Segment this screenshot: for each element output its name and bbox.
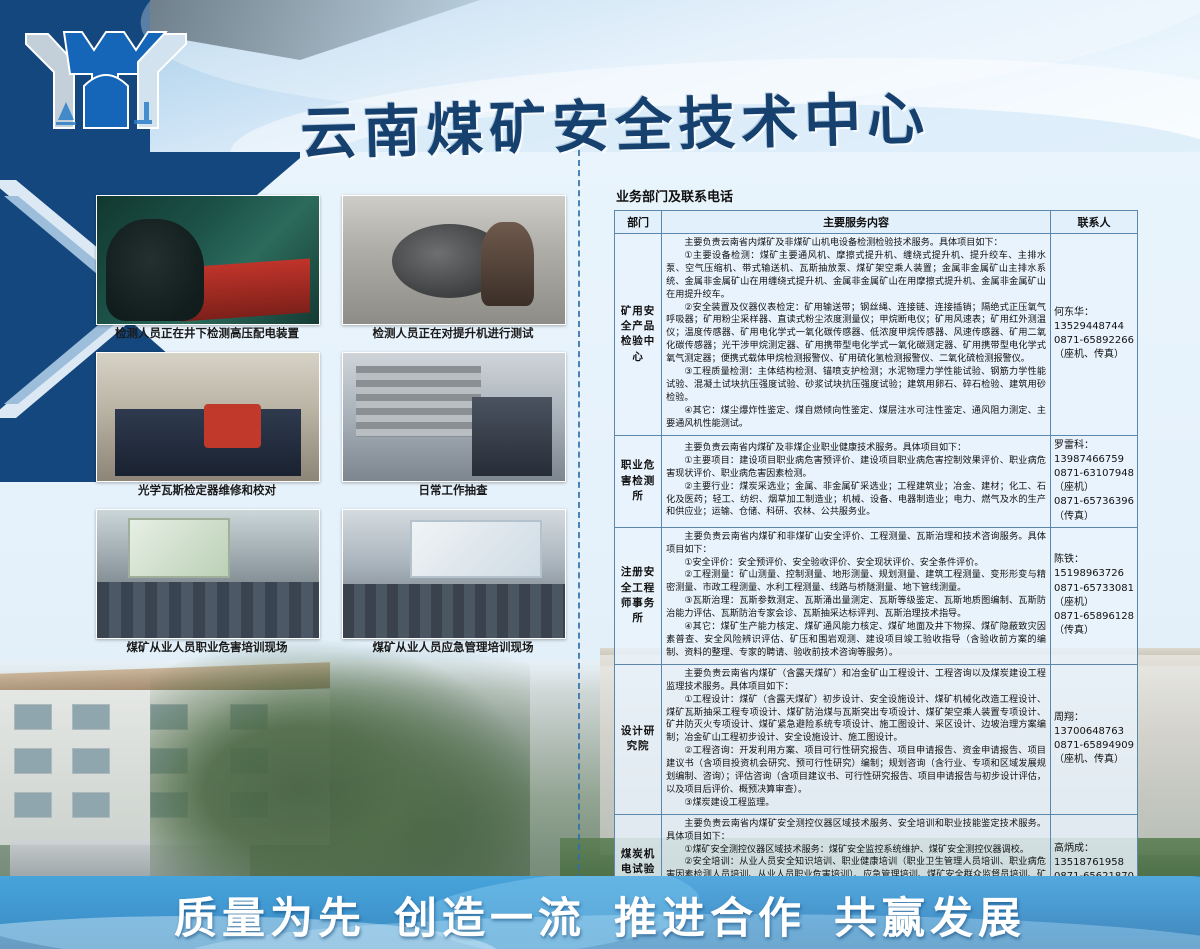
department-name: 设计研究院 <box>615 664 662 814</box>
photo-item: 日常工作抽查 <box>342 352 564 480</box>
service-content: 主要负责云南省内煤矿（含露天煤矿）和冶金矿山工程设计、工程咨询以及煤炭建设工程监… <box>662 664 1051 814</box>
photo-image-4 <box>342 352 566 482</box>
photo-caption: 煤矿从业人员职业危害培训现场 <box>96 639 318 655</box>
contact-line: （座机） <box>1054 596 1134 610</box>
table-row: 职业危害检测所主要负责云南省内煤矿及非煤企业职业健康技术服务。具体项目如下：①主… <box>615 435 1138 527</box>
service-paragraph: ①主要设备检测：煤矿主要通风机、摩擦式提升机、缠绕式提升机、提升绞车、主排水泵、… <box>666 250 1046 302</box>
contact-line: 何东华： <box>1054 306 1134 320</box>
contact-line: 13700648763 <box>1054 725 1134 739</box>
section-title: 业务部门及联系电话 <box>616 186 1138 205</box>
photo-row-3: 煤矿从业人员职业危害培训现场 煤矿从业人员应急管理培训现场 <box>96 509 564 659</box>
contact-line: （座机） <box>1054 481 1134 495</box>
photo-item: 煤矿从业人员应急管理培训现场 <box>342 509 564 637</box>
service-paragraph: ②主要行业：煤炭采选业；金属、非金属矿采选业；工程建筑业；冶金、建材；化工、石化… <box>666 481 1046 520</box>
photo-image-2 <box>342 195 566 325</box>
photo-image-5 <box>96 509 320 639</box>
contact-person: 陈铁：151989637260871-65733081（座机）0871-6589… <box>1051 527 1138 664</box>
contact-line: 13987466759 <box>1054 453 1134 467</box>
service-content: 主要负责云南省内煤矿及非煤矿山机电设备检测检验技术服务。具体项目如下：①主要设备… <box>662 234 1051 436</box>
service-paragraph: ①工程设计：煤矿（含露天煤矿）初步设计、安全设施设计、煤矿机械化改造工程设计、煤… <box>666 694 1046 746</box>
photo-caption: 检测人员正在对提升机进行测试 <box>342 325 564 341</box>
service-paragraph: ④其它：煤尘爆炸性鉴定、煤自燃倾向性鉴定、煤层注水可注性鉴定、通风阻力测定、主要… <box>666 405 1046 431</box>
slogan-phrase: 推进合作 <box>614 894 806 944</box>
fold-divider-line <box>578 150 580 880</box>
service-paragraph: 主要负责云南省内煤矿及非煤矿山机电设备检测检验技术服务。具体项目如下： <box>666 237 1046 250</box>
business-info-panel: 业务部门及联系电话 部门 主要服务内容 联系人 矿用安全产品检验中心主要负责云南… <box>614 186 1138 949</box>
contact-line: 15198963726 <box>1054 567 1134 581</box>
contact-line: 高炳成： <box>1054 842 1134 856</box>
photo-image-6 <box>342 509 566 639</box>
service-paragraph: ④其它：煤矿生产能力核定、煤矿通风能力核定、煤矿地面及井下物探、煤矿隐蔽致灾因素… <box>666 621 1046 660</box>
contact-line: 0871-65736396 <box>1054 495 1134 509</box>
poster-page: 云南煤矿安全技术中心 检测人员正在井下检测高压配电装置 检测人员正在对提升机进行… <box>0 0 1200 949</box>
table-row: 设计研究院主要负责云南省内煤矿（含露天煤矿）和冶金矿山工程设计、工程咨询以及煤炭… <box>615 664 1138 814</box>
table-header-row: 部门 主要服务内容 联系人 <box>615 211 1138 234</box>
service-content: 主要负责云南省内煤矿和非煤矿山安全评价、工程测量、瓦斯治理和技术咨询服务。具体项… <box>662 527 1051 664</box>
column-header-contact: 联系人 <box>1051 211 1138 234</box>
service-paragraph: ③煤炭建设工程监理。 <box>666 797 1046 810</box>
slogan-text: 质量为先创造一流推进合作共赢发展 <box>0 884 1200 946</box>
contact-line: 13529448744 <box>1054 320 1134 334</box>
photo-image-1 <box>96 195 320 325</box>
slogan-phrase: 创造一流 <box>394 894 586 944</box>
table-row: 注册安全工程师事务所主要负责云南省内煤矿和非煤矿山安全评价、工程测量、瓦斯治理和… <box>615 527 1138 664</box>
service-paragraph: 主要负责云南省内煤矿及非煤企业职业健康技术服务。具体项目如下： <box>666 442 1046 455</box>
service-paragraph: 主要负责云南省内煤矿安全测控仪器区域技术服务、安全培训和职业技能鉴定技术服务。具… <box>666 818 1046 844</box>
photo-row-2: 光学瓦斯检定器维修和校对 日常工作抽查 <box>96 352 564 502</box>
photo-caption: 检测人员正在井下检测高压配电装置 <box>96 325 318 341</box>
photo-caption: 日常工作抽查 <box>342 482 564 498</box>
slogan-phrase: 质量为先 <box>174 894 366 944</box>
service-paragraph: ①安全评价：安全预评价、安全验收评价、安全现状评价、安全条件评价。 <box>666 557 1046 570</box>
logo-arch <box>84 75 128 128</box>
contact-line: 陈铁： <box>1054 553 1134 567</box>
slogan-phrase: 共赢发展 <box>834 894 1026 944</box>
contact-line: 0871-65894909 <box>1054 739 1134 753</box>
photo-row-1: 检测人员正在井下检测高压配电装置 检测人员正在对提升机进行测试 <box>96 195 564 345</box>
service-paragraph: ③工程质量检测：主体结构检测、锚喷支护检测；水泥物理力学性能试验、钢筋力学性能试… <box>666 366 1046 405</box>
contact-line: 周翔： <box>1054 711 1134 725</box>
contact-person: 周翔：137006487630871-65894909（座机、传真） <box>1051 664 1138 814</box>
service-paragraph: ③瓦斯治理：瓦斯参数测定、瓦斯涌出量测定、瓦斯等级鉴定、瓦斯地质图编制、瓦斯防治… <box>666 595 1046 621</box>
column-header-department: 部门 <box>615 211 662 234</box>
contact-line: 罗雷科： <box>1054 439 1134 453</box>
contact-line: 0871-65896128 <box>1054 610 1134 624</box>
photo-caption: 光学瓦斯检定器维修和校对 <box>96 482 318 498</box>
photo-image-3 <box>96 352 320 482</box>
organization-logo <box>18 16 194 144</box>
service-paragraph: ②安全装置及仪器仪表检定：矿用输送带；钢丝绳、连接链、连接插销；隔绝式正压氧气呼… <box>666 302 1046 367</box>
photo-gallery: 检测人员正在井下检测高压配电装置 检测人员正在对提升机进行测试 光学瓦斯检定器维… <box>96 195 564 665</box>
service-paragraph: ①主要项目：建设项目职业病危害预评价、建设项目职业病危害控制效果评价、职业病危害… <box>666 455 1046 481</box>
service-paragraph: 主要负责云南省内煤矿和非煤矿山安全评价、工程测量、瓦斯治理和技术咨询服务。具体项… <box>666 531 1046 557</box>
photo-item: 光学瓦斯检定器维修和校对 <box>96 352 318 480</box>
photo-caption: 煤矿从业人员应急管理培训现场 <box>342 639 564 655</box>
photo-item: 检测人员正在井下检测高压配电装置 <box>96 195 318 323</box>
contact-line: 0871-63107948 <box>1054 467 1134 481</box>
table-row: 矿用安全产品检验中心主要负责云南省内煤矿及非煤矿山机电设备检测检验技术服务。具体… <box>615 234 1138 436</box>
department-name: 职业危害检测所 <box>615 435 662 527</box>
service-paragraph: 主要负责云南省内煤矿（含露天煤矿）和冶金矿山工程设计、工程咨询以及煤炭建设工程监… <box>666 668 1046 694</box>
contact-line: （座机、传真） <box>1054 753 1134 767</box>
column-header-services: 主要服务内容 <box>662 211 1051 234</box>
contact-line: 13518761958 <box>1054 856 1134 870</box>
contact-line: （座机、传真） <box>1054 348 1134 362</box>
department-name: 矿用安全产品检验中心 <box>615 234 662 436</box>
contact-person: 罗雷科：139874667590871-63107948（座机）0871-657… <box>1051 435 1138 527</box>
page-title: 云南煤矿安全技术中心 <box>299 72 1001 161</box>
service-paragraph: ①煤矿安全测控仪器区域技术服务：煤矿安全监控系统维护、煤矿安全测控仪器调校。 <box>666 844 1046 857</box>
contact-line: （传真） <box>1054 510 1134 524</box>
business-departments-table: 部门 主要服务内容 联系人 矿用安全产品检验中心主要负责云南省内煤矿及非煤矿山机… <box>614 210 1138 926</box>
contact-line: 0871-65892266 <box>1054 334 1134 348</box>
service-paragraph: ②工程测量：矿山测量、控制测量、地形测量、规划测量、建筑工程测量、变形形变与精密… <box>666 569 1046 595</box>
service-content: 主要负责云南省内煤矿及非煤企业职业健康技术服务。具体项目如下：①主要项目：建设项… <box>662 435 1051 527</box>
service-paragraph: ②工程咨询：开发利用方案、项目可行性研究报告、项目申请报告、资金申请报告、项目建… <box>666 745 1046 797</box>
contact-line: 0871-65733081 <box>1054 582 1134 596</box>
photo-item: 检测人员正在对提升机进行测试 <box>342 195 564 323</box>
department-name: 注册安全工程师事务所 <box>615 527 662 664</box>
contact-person: 何东华：135294487440871-65892266（座机、传真） <box>1051 234 1138 436</box>
contact-line: （传真） <box>1054 624 1134 638</box>
photo-item: 煤矿从业人员职业危害培训现场 <box>96 509 318 637</box>
campus-trees <box>150 640 530 890</box>
